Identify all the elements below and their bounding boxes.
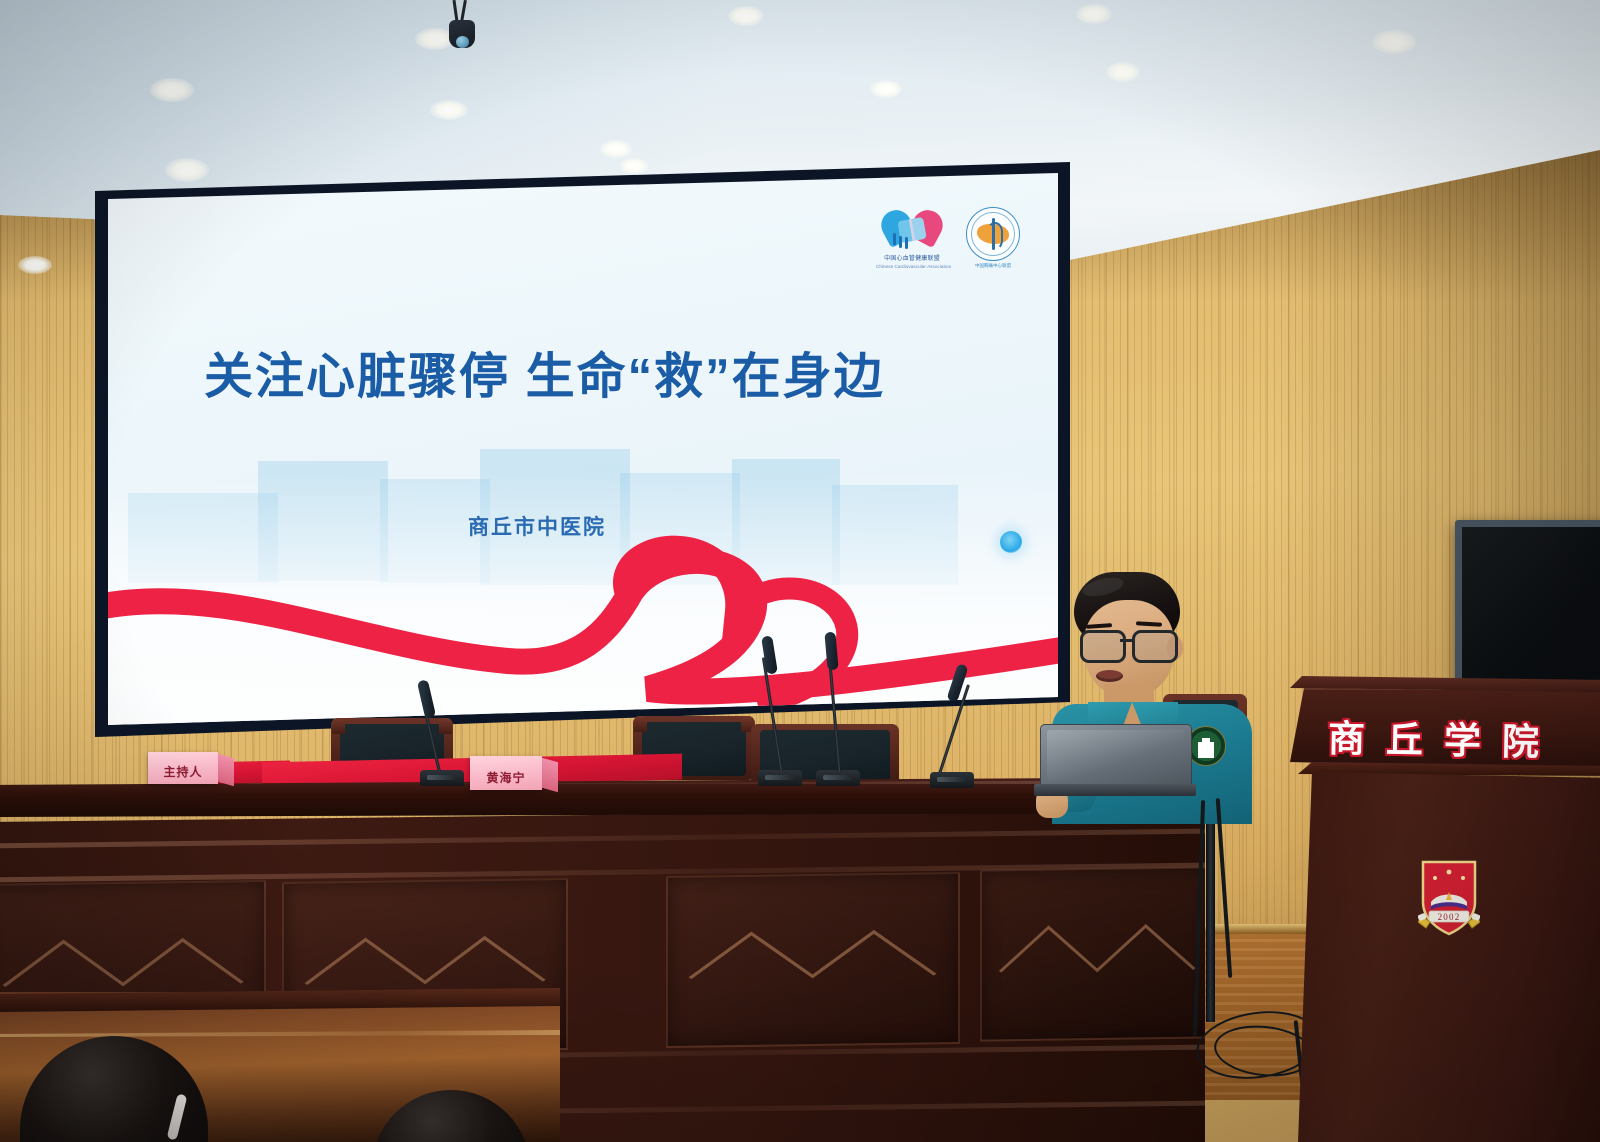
laptop-hinge <box>1034 784 1196 796</box>
name-placard: 主持人 <box>148 752 218 784</box>
gooseneck-microphone[interactable] <box>758 626 806 786</box>
gooseneck-microphone[interactable] <box>930 650 978 788</box>
logo-cn-text: 中国心血管健康联盟 <box>876 256 948 264</box>
logo-en-text: Chinese Cardiovascular Association <box>876 264 948 269</box>
zigzag-motif-icon <box>685 925 940 996</box>
lectern-podium[interactable]: 商 丘 学 院 2002 <box>1290 676 1600 1142</box>
eyeglasses-icon <box>1080 630 1184 657</box>
laptop-lid <box>1040 724 1192 788</box>
podium-body <box>1298 772 1600 1142</box>
placard-small-text <box>153 755 158 761</box>
podium-head: 商 丘 学 院 <box>1290 688 1600 766</box>
podium-char: 院 <box>1502 711 1540 766</box>
ceiling-downlight <box>620 158 648 174</box>
ceiling-downlight <box>165 158 209 182</box>
heart-health-center-alliance-logo: 中国胸痛中心联盟 <box>962 207 1024 269</box>
shoulder-patch-icon <box>1186 726 1226 766</box>
zigzag-motif-icon <box>996 919 1198 989</box>
presenter-mouth <box>1096 670 1123 682</box>
hair-clip-icon <box>167 1093 188 1140</box>
heart-handshake-icon <box>881 207 943 253</box>
table-panel <box>666 872 960 1048</box>
ceiling-downlight <box>18 256 52 274</box>
podium-char: 丘 <box>1386 709 1424 764</box>
podium-venue-name: 商 丘 学 院 <box>1328 708 1540 766</box>
placard-label: 主持人 <box>148 763 218 780</box>
chinese-cardiovascular-association-logo: 中国心血管健康联盟 Chinese Cardiovascular Associa… <box>876 207 948 269</box>
placard-small-text <box>475 759 480 765</box>
table-rail <box>0 829 1205 849</box>
slide-title: 关注心脏骤停 生命“救”在身边 <box>204 351 964 405</box>
name-placard: 黄海宁 <box>470 756 542 790</box>
placard-label: 黄海宁 <box>470 769 542 786</box>
podium-char: 商 <box>1328 708 1366 763</box>
ceiling-downlight <box>1106 62 1140 82</box>
podium-char: 学 <box>1444 710 1482 765</box>
laptop[interactable] <box>1040 724 1190 798</box>
ceiling-downlight <box>1372 30 1416 54</box>
ceiling-downlight <box>870 80 902 98</box>
gooseneck-microphone[interactable] <box>816 624 864 786</box>
projection-screen[interactable]: 中国心血管健康联盟 Chinese Cardiovascular Associa… <box>108 173 1058 725</box>
ceiling-downlight <box>430 100 468 120</box>
university-crest-icon: 2002 <box>1418 858 1480 936</box>
logo-cn-text: 中国胸痛中心联盟 <box>962 263 1024 269</box>
caduceus-map-icon <box>966 207 1020 261</box>
table-panel <box>980 866 1214 1041</box>
lecture-hall-photo: 中国心血管健康联盟 Chinese Cardiovascular Associa… <box>0 0 1600 1142</box>
ceiling-downlight <box>150 78 194 102</box>
slide-logo-group: 中国心血管健康联盟 Chinese Cardiovascular Associa… <box>876 207 1024 269</box>
crest-year: 2002 <box>1438 912 1461 922</box>
projector-ceiling-mount-icon <box>440 0 486 50</box>
gooseneck-microphone[interactable] <box>420 660 468 786</box>
ceiling-downlight <box>728 6 764 26</box>
ceiling-downlight <box>1076 4 1112 24</box>
ceiling-downlight <box>600 140 632 158</box>
red-ribbon-heart-graphic <box>108 511 1058 725</box>
